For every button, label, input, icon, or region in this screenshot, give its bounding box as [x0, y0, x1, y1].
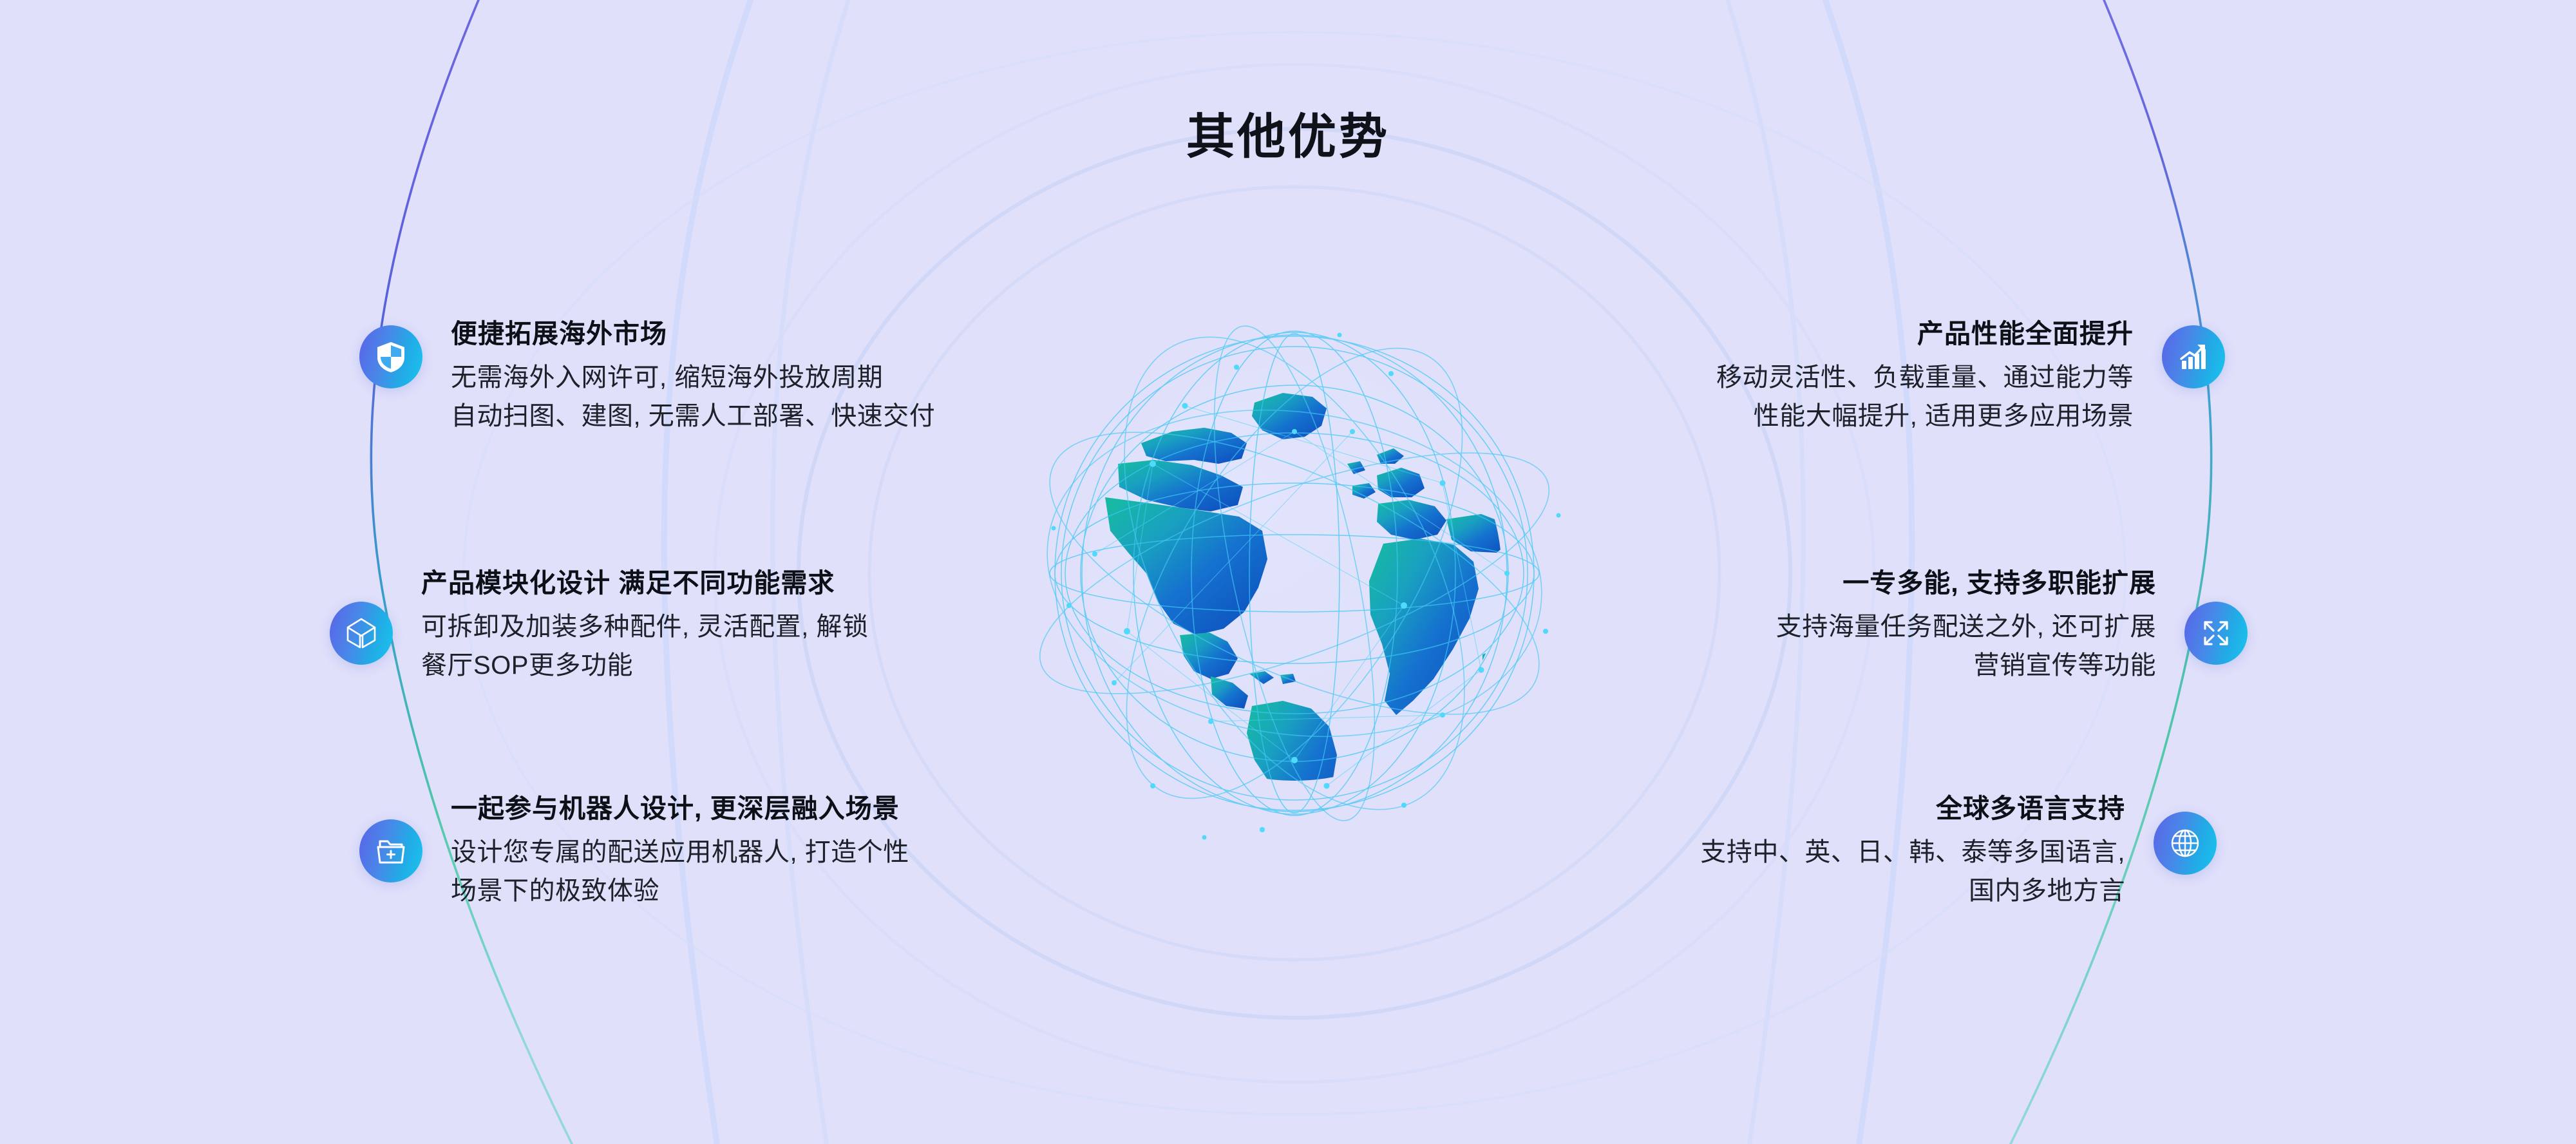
feature-item-performance[interactable]: 产品性能全面提升 移动灵活性、负载重量、通过能力等 性能大幅提升, 适用更多应用…	[1716, 318, 2225, 435]
feature-line: 移动灵活性、负载重量、通过能力等	[1716, 358, 2134, 397]
feature-title: 便捷拓展海外市场	[451, 318, 667, 350]
feature-item-codesign[interactable]: 一起参与机器人设计, 更深层融入场景 设计您专属的配送应用机器人, 打造个性 场…	[359, 792, 909, 910]
feature-title: 产品模块化设计 满足不同功能需求	[421, 567, 835, 599]
feature-line: 可拆卸及加装多种配件, 灵活配置, 解锁	[421, 607, 868, 646]
cube-icon	[330, 602, 393, 665]
feature-line: 场景下的极致体验	[451, 872, 659, 910]
feature-item-overseas[interactable]: 便捷拓展海外市场 无需海外入网许可, 缩短海外投放周期 自动扫图、建图, 无需人…	[359, 318, 935, 435]
advantages-infographic: 其他优势	[0, 0, 2576, 1144]
feature-text-performance: 产品性能全面提升 移动灵活性、负载重量、通过能力等 性能大幅提升, 适用更多应用…	[1716, 318, 2134, 435]
expand-arrows-icon	[2184, 602, 2248, 665]
folder-plus-icon	[359, 819, 422, 882]
feature-line: 性能大幅提升, 适用更多应用场景	[1754, 397, 2134, 435]
feature-line: 设计您专属的配送应用机器人, 打造个性	[451, 833, 909, 872]
feature-item-multirole[interactable]: 一专多能, 支持多职能扩展 支持海量任务配送之外, 还可扩展 营销宣传等功能	[1776, 567, 2248, 685]
feature-line: 国内多地方言	[1969, 872, 2125, 910]
feature-title: 产品性能全面提升	[1917, 318, 2134, 350]
feature-line: 无需海外入网许可, 缩短海外投放周期	[451, 358, 883, 397]
feature-item-language[interactable]: 全球多语言支持 支持中、英、日、韩、泰等多国语言, 国内多地方言	[1700, 792, 2217, 910]
feature-line: 支持海量任务配送之外, 还可扩展	[1776, 607, 2156, 646]
shield-icon	[359, 325, 422, 388]
feature-item-modular[interactable]: 产品模块化设计 满足不同功能需求 可拆卸及加装多种配件, 灵活配置, 解锁 餐厅…	[330, 567, 868, 685]
feature-text-modular: 产品模块化设计 满足不同功能需求 可拆卸及加装多种配件, 灵活配置, 解锁 餐厅…	[421, 567, 868, 685]
feature-title: 一起参与机器人设计, 更深层融入场景	[451, 792, 900, 825]
feature-line: 自动扫图、建图, 无需人工部署、快速交付	[451, 397, 935, 435]
feature-text-multirole: 一专多能, 支持多职能扩展 支持海量任务配送之外, 还可扩展 营销宣传等功能	[1776, 567, 2156, 685]
growth-chart-icon	[2162, 325, 2225, 388]
feature-line: 餐厅SOP更多功能	[421, 646, 633, 685]
page-title: 其他优势	[0, 113, 2576, 161]
feature-line: 支持中、英、日、韩、泰等多国语言,	[1700, 833, 2125, 872]
feature-text-language: 全球多语言支持 支持中、英、日、韩、泰等多国语言, 国内多地方言	[1700, 792, 2125, 910]
feature-title: 一专多能, 支持多职能扩展	[1842, 567, 2156, 599]
feature-line: 营销宣传等功能	[1974, 646, 2157, 685]
feature-title: 全球多语言支持	[1936, 792, 2125, 825]
globe-icon	[2154, 812, 2217, 875]
feature-text-codesign: 一起参与机器人设计, 更深层融入场景 设计您专属的配送应用机器人, 打造个性 场…	[451, 792, 909, 910]
feature-text-overseas: 便捷拓展海外市场 无需海外入网许可, 缩短海外投放周期 自动扫图、建图, 无需人…	[451, 318, 935, 435]
globe-network-illustration	[992, 271, 1597, 876]
